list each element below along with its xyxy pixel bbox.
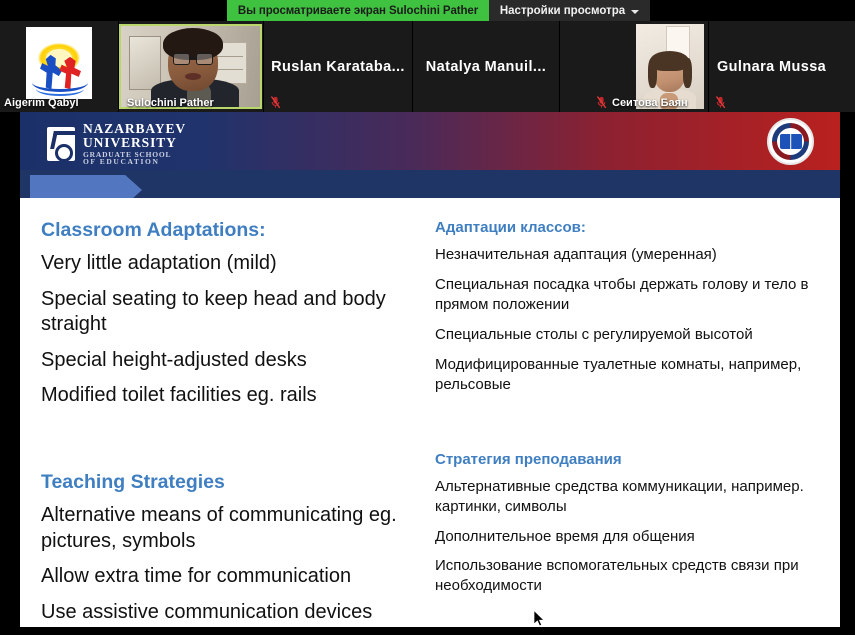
list-item: Special height-adjusted desks xyxy=(41,348,414,374)
participant-name-label: Сеитова Баян xyxy=(612,97,688,109)
screen-share-top-bar: Вы просматриваете экран Sulochini Pather… xyxy=(0,0,855,21)
list-item: Незначительная адаптация (умеренная) xyxy=(435,245,830,265)
person-mouth xyxy=(185,73,201,80)
section-spacer xyxy=(435,405,830,451)
microphone-muted-icon xyxy=(715,96,726,109)
letterbox-left xyxy=(0,112,20,635)
participant-tile-aigerim-qabyl[interactable]: Aigerim Qabyl xyxy=(0,21,119,112)
list-item: Альтернативные средства коммуникации, на… xyxy=(435,477,830,517)
participant-name-label: Natalya Manuil... xyxy=(413,21,559,112)
open-book-icon xyxy=(780,134,802,149)
brand-line-2: UNIVERSITY xyxy=(83,136,186,150)
participant-filmstrip: Aigerim Qabyl Sulochini Pather Ruslan Ka… xyxy=(0,21,855,112)
list-item: Использование вспомогательных средств св… xyxy=(435,556,830,596)
list-item: Дополнительное время для общения xyxy=(435,527,830,547)
view-options-label: Настройки просмотра xyxy=(500,5,625,17)
list-item: Модифицированные туалетные комнаты, напр… xyxy=(435,355,830,395)
microphone-muted-icon xyxy=(596,96,607,109)
microphone-muted-icon xyxy=(270,96,281,109)
list-item: Special seating to keep head and body st… xyxy=(41,287,414,338)
brand-line-4: OF EDUCATION xyxy=(83,158,186,166)
participant-tile-gulnara-mussabekova[interactable]: Gulnara Mussa xyxy=(709,21,855,112)
swoosh-secondary-icon xyxy=(36,82,84,96)
person-hair-right xyxy=(683,58,692,88)
slide-chevron-bar xyxy=(20,170,840,198)
mirror-object xyxy=(129,36,161,90)
section-heading-classroom-adaptations: Classroom Adaptations: xyxy=(41,219,414,242)
participant-name-label: Ruslan Karataba... xyxy=(264,21,412,112)
list-item: Very little adaptation (mild) xyxy=(41,251,414,277)
participant-name-label: Aigerim Qabyl xyxy=(4,97,79,109)
slide-header-banner: NAZARBAYEV UNIVERSITY GRADUATE SCHOOL OF… xyxy=(20,112,840,170)
slide-column-english: Classroom Adaptations: Very little adapt… xyxy=(20,219,424,627)
list-item: Специальная посадка чтобы держать голову… xyxy=(435,275,830,315)
participant-tile-ruslan-karatabanov[interactable]: Ruslan Karataba... xyxy=(264,21,413,112)
zoom-screen-share-window: Вы просматриваете экран Sulochini Pather… xyxy=(0,0,855,635)
section-spacer xyxy=(41,419,414,471)
section-heading-teaching-strategies: Teaching Strategies xyxy=(41,471,414,494)
section-heading-adaptacii-klassov: Адаптации классов: xyxy=(435,219,830,236)
slide-column-russian: Адаптации классов: Незначительная адапта… xyxy=(424,219,840,627)
participant-tile-seitova-bayan[interactable]: Сеитова Баян xyxy=(560,21,709,112)
person-hair-left xyxy=(648,58,657,88)
shared-slide: NAZARBAYEV UNIVERSITY GRADUATE SCHOOL OF… xyxy=(20,112,840,627)
letterbox-bottom xyxy=(0,627,855,635)
sharing-notice-banner: Вы просматриваете экран Sulochini Pather xyxy=(227,0,489,21)
institution-seal-icon xyxy=(767,118,814,165)
seal-inner-disc xyxy=(777,128,804,155)
list-item: Use assistive communication devices wher… xyxy=(41,600,414,627)
chevron-down-icon xyxy=(631,10,639,14)
slide-content: Classroom Adaptations: Very little adapt… xyxy=(20,198,840,627)
letterbox-right xyxy=(840,112,855,635)
glasses-icon xyxy=(173,53,213,63)
list-item: Modified toilet facilities eg. rails xyxy=(41,383,414,409)
participant-avatar-logo xyxy=(26,27,92,99)
participant-name-label: Gulnara Mussa xyxy=(709,21,855,112)
participant-name-label: Sulochini Pather xyxy=(127,97,214,109)
list-item: Alternative means of communicating eg. p… xyxy=(41,503,414,554)
list-item: Специальные столы с регулируемой высотой xyxy=(435,325,830,345)
participant-tile-natalya-manuilova[interactable]: Natalya Manuil... xyxy=(413,21,560,112)
list-item: Allow extra time for communication xyxy=(41,564,414,590)
view-options-button[interactable]: Настройки просмотра xyxy=(489,0,650,21)
participant-tile-sulochini-pather[interactable]: Sulochini Pather xyxy=(119,21,264,112)
brand-line-1: NAZARBAYEV xyxy=(83,122,186,136)
nu-monogram-icon xyxy=(47,127,75,161)
nazarbayev-university-logo: NAZARBAYEV UNIVERSITY GRADUATE SCHOOL OF… xyxy=(47,122,186,166)
section-heading-strategiya-prepodavaniya: Стратегия преподавания xyxy=(435,451,830,468)
